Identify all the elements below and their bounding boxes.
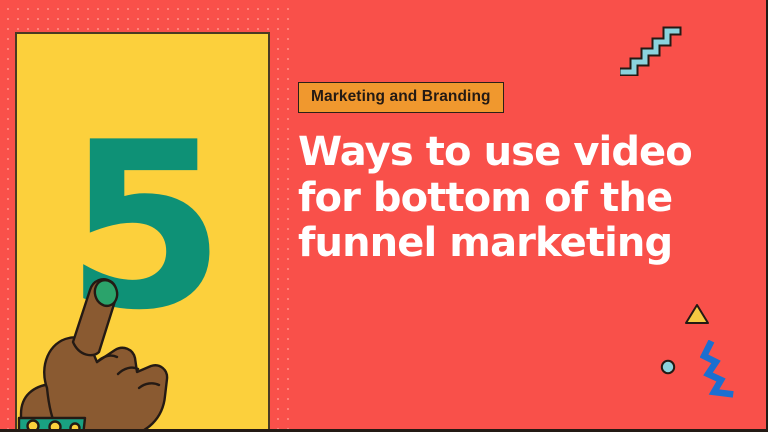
category-badge: Marketing and Branding <box>298 82 504 113</box>
slide-canvas: 5 <box>0 0 768 432</box>
headline-line-1: Ways to use video <box>298 130 718 176</box>
yellow-number-card: 5 <box>15 32 270 432</box>
triangle-icon <box>684 302 710 326</box>
pointing-hand-illustration <box>15 246 211 432</box>
headline-line-3: funnel marketing <box>298 221 718 267</box>
headline-line-2: for bottom of the <box>298 176 718 222</box>
staircase-zigzag-icon <box>620 26 682 76</box>
dot-circle-icon <box>659 358 677 376</box>
page-title: Ways to use video for bottom of the funn… <box>298 130 718 267</box>
lightning-zigzag-icon <box>700 340 746 398</box>
